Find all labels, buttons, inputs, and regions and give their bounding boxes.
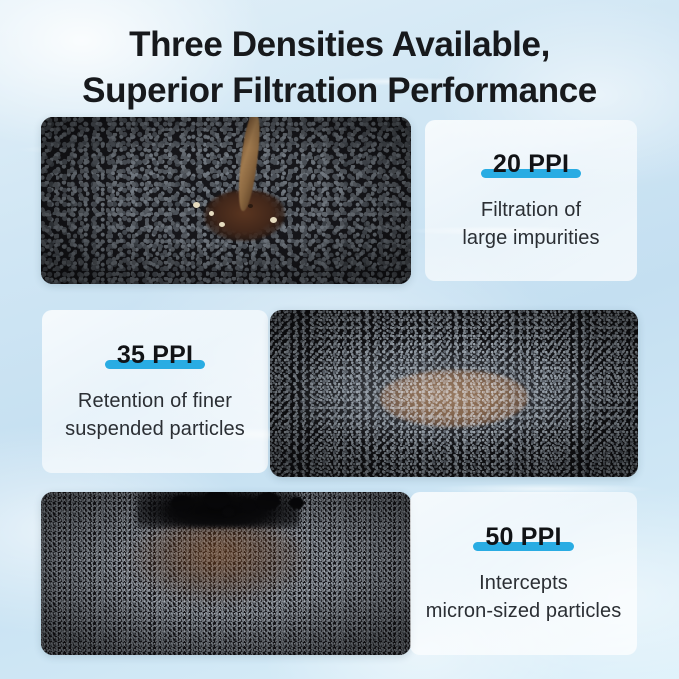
desc-line-1: Retention of finer (65, 387, 245, 415)
spec-card-35ppi: 35 PPI Retention of finer suspended part… (42, 310, 268, 473)
desc-line-1: Intercepts (426, 569, 622, 597)
foam-photo-35ppi (270, 310, 638, 477)
ppi-label: 35 PPI (113, 341, 197, 369)
desc-line-2: micron-sized particles (426, 597, 622, 625)
foam-photo-20ppi (41, 117, 411, 284)
photo-vignette (41, 117, 411, 284)
desc-line-2: large impurities (462, 224, 599, 252)
spec-description-50ppi: Intercepts micron-sized particles (426, 569, 622, 625)
desc-line-2: suspended particles (65, 415, 245, 443)
photo-vignette (270, 310, 638, 477)
page-title-line-2: Superior Filtration Performance (32, 68, 647, 114)
ppi-badge-50: 50 PPI (481, 523, 565, 552)
ppi-label: 20 PPI (489, 150, 573, 178)
ppi-label: 50 PPI (481, 523, 565, 551)
page-title: Three Densities Available, Superior Filt… (0, 22, 679, 113)
spec-description-35ppi: Retention of finer suspended particles (65, 387, 245, 443)
ppi-badge-35: 35 PPI (113, 341, 197, 370)
desc-line-1: Filtration of (462, 196, 599, 224)
page-title-line-1: Three Densities Available, (32, 22, 647, 68)
photo-vignette (41, 492, 411, 655)
ppi-badge-20: 20 PPI (489, 150, 573, 179)
spec-card-20ppi: 20 PPI Filtration of large impurities (425, 120, 637, 281)
spec-card-50ppi: 50 PPI Intercepts micron-sized particles (410, 492, 637, 655)
spec-description-20ppi: Filtration of large impurities (462, 196, 599, 252)
foam-photo-50ppi (41, 492, 411, 655)
